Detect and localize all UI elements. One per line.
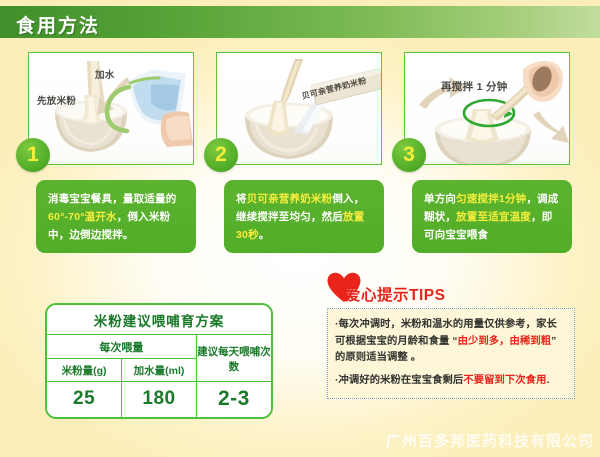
feeding-table-grid: 米粉建议喂哺育方案 每次喂量 建议每天喂哺次数 米粉量(g) 加水量(ml) 2…	[47, 305, 271, 417]
tips-item-1: ·每次冲调时，米粉和温水的用量仅供参考，家长可根据宝宝的月龄和食量 “由少到多，…	[335, 317, 565, 367]
step-1-text: 消毒宝宝餐具，量取适量的60°-70°温开水，倒入米粉中，边倒边搅拌。	[48, 190, 186, 244]
step-3-caption-stir: 再搅拌 1 分钟	[441, 79, 508, 94]
steps-container: 先放米粉 加水 1 消毒宝宝餐具，量取适量的60°-70°温开水，倒入米粉中，边…	[0, 52, 600, 257]
page-title: 食用方法	[16, 11, 100, 38]
bowl-stirring-pouring-powder-illustration	[217, 53, 381, 164]
step-2: 贝可亲营养奶米粉 2 将贝可亲营养奶米粉倒入，继续搅拌至均匀，然后放置30秒。	[216, 52, 384, 165]
table-val-water: 180	[122, 382, 197, 418]
step-2-number-badge: 2	[204, 138, 238, 172]
step-3-photo: 再搅拌 1 分钟	[404, 52, 570, 165]
feeding-table: 米粉建议喂哺育方案 每次喂量 建议每天喂哺次数 米粉量(g) 加水量(ml) 2…	[45, 303, 273, 419]
tips-box: ·每次冲调时，米粉和温水的用量仅供参考，家长可根据宝宝的月龄和食量 “由少到多，…	[327, 308, 575, 399]
table-title: 米粉建议喂哺育方案	[47, 305, 271, 335]
table-row: 每次喂量 建议每天喂哺次数	[47, 335, 271, 359]
company-watermark: 广州百多邦医药科技有限公司	[386, 430, 594, 451]
step-3-number-badge: 3	[392, 138, 426, 172]
section-header-bar: 食用方法	[0, 6, 600, 38]
step-2-text: 将贝可亲营养奶米粉倒入，继续搅拌至均匀，然后放置30秒。	[236, 190, 374, 244]
step-2-text-card: 将贝可亲营养奶米粉倒入，继续搅拌至均匀，然后放置30秒。	[224, 180, 384, 253]
page-root: 食用方法	[0, 0, 600, 457]
table-col-rice: 米粉量(g)	[47, 359, 122, 382]
step-3-illustration	[405, 53, 569, 164]
table-times-header: 建议每天喂哺次数	[196, 335, 271, 382]
table-group-header: 每次喂量	[47, 335, 196, 359]
step-1-photo: 先放米粉 加水	[28, 52, 194, 165]
hand-stirring-bowl-illustration	[405, 53, 569, 164]
table-val-rice: 25	[47, 382, 122, 418]
step-1-number-badge: 1	[16, 138, 50, 172]
tips-item-2: ·冲调好的米粉在宝宝食剩后不要留到下次食用.	[335, 373, 565, 390]
table-val-times: 2-3	[196, 382, 271, 418]
step-1-caption-water: 加水	[95, 67, 115, 81]
step-1: 先放米粉 加水 1 消毒宝宝餐具，量取适量的60°-70°温开水，倒入米粉中，边…	[28, 52, 196, 165]
step-3-text: 单方向匀速搅拌1分钟，调成糊状，放置至适宜温度，即可向宝宝喂食	[424, 190, 562, 244]
step-3-text-card: 单方向匀速搅拌1分钟，调成糊状，放置至适宜温度，即可向宝宝喂食	[412, 180, 572, 253]
tips-title: 爱心提示TIPS	[345, 283, 445, 305]
step-2-illustration	[217, 53, 381, 164]
step-3: 再搅拌 1 分钟 3 单方向匀速搅拌1分钟，调成糊状，放置至适宜温度，即可向宝宝…	[404, 52, 572, 165]
tips-section: 爱心提示TIPS ·每次冲调时，米粉和温水的用量仅供参考，家长可根据宝宝的月龄和…	[327, 272, 575, 399]
table-row: 25 180 2-3	[47, 382, 271, 418]
tips-header: 爱心提示TIPS	[327, 272, 575, 306]
table-row: 米粉建议喂哺育方案	[47, 305, 271, 335]
step-2-photo: 贝可亲营养奶米粉	[216, 52, 382, 165]
step-1-text-card: 消毒宝宝餐具，量取适量的60°-70°温开水，倒入米粉中，边倒边搅拌。	[36, 180, 196, 253]
table-col-water: 加水量(ml)	[122, 359, 197, 382]
step-1-caption-rice: 先放米粉	[37, 93, 76, 107]
